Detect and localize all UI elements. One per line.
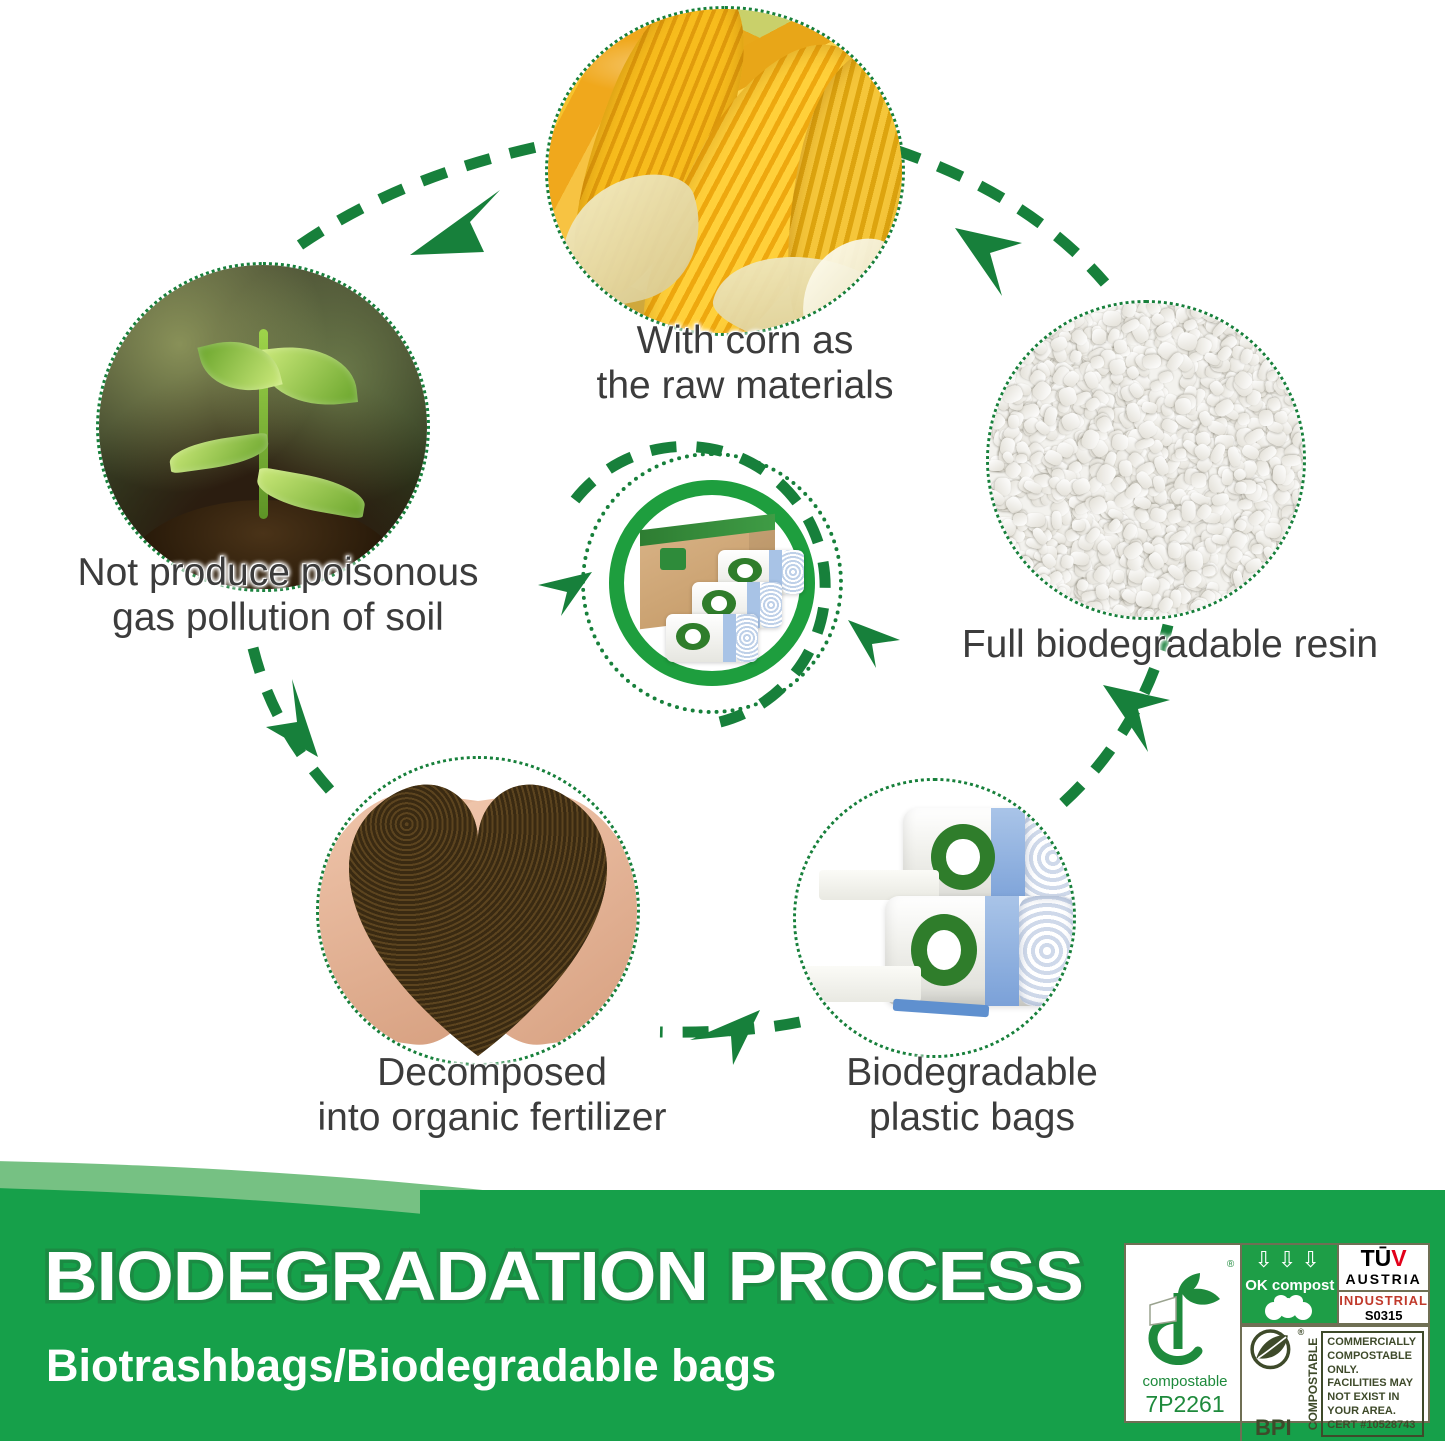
registered-mark-icon: ® [1227,1259,1234,1270]
seedling-icon [1142,1263,1228,1371]
arrow-head-resin-to-bags [1103,685,1170,752]
arrow-head-center-right [848,620,900,668]
bpi-leaf-icon [1246,1327,1300,1375]
bpi-badge: ® BPI [1242,1327,1304,1441]
bpi-registered-mark-icon: ® [1298,1327,1305,1337]
infographic-canvas: With corn as the raw materials Full biod… [0,0,1445,1441]
ok-compost-tuv-row: ⇩⇩⇩ OK compost TŪV AUSTRIA [1240,1245,1428,1325]
bpi-row: ® BPI COMPOSTABLE COMMERCIALLY COMPOSTAB… [1240,1325,1428,1441]
arrow-head-sprout-to-corn [410,190,500,255]
compostable-vertical: COMPOSTABLE [1304,1327,1321,1441]
step-image-corn [545,6,905,336]
product-roll-3 [666,614,758,662]
hands-holding-heart-soil-photo [316,756,640,1066]
tuv-code: S0315 [1365,1308,1403,1323]
bpi-text: BPI [1242,1417,1304,1439]
step-image-resin [986,300,1306,620]
caption-resin: Full biodegradable resin [900,622,1440,667]
compostable-vertical-text: COMPOSTABLE [1306,1338,1320,1430]
arrow-path-corn-to-resin [895,150,1105,283]
tuv-name: TŪV [1361,1247,1407,1270]
compost-flower-icon [1264,1295,1316,1321]
page-title: BIODEGRADATION PROCESS [44,1236,1083,1316]
seedling-in-soil-photo [96,262,430,592]
corn-cobs-photo [545,6,905,336]
seedling-label: compostable [1126,1373,1244,1390]
tuv-country: AUSTRIA [1346,1270,1422,1288]
arrow-head-corn-to-resin [955,228,1022,296]
page-subtitle: Biotrashbags/Biodegradable bags [46,1340,776,1392]
arrow-path-bags-to-soil [660,1022,800,1032]
arrow-path-soil-to-sprout [253,648,330,790]
bag-rolls-photo [793,778,1076,1058]
tuv-divider [1339,1290,1428,1292]
arrow-path-sprout-to-corn [300,142,560,245]
caption-sprout: Not produce poisonous gas pollution of s… [18,550,538,640]
ok-compost-badge: ⇩⇩⇩ OK compost [1242,1245,1337,1323]
step-image-bags [793,778,1076,1058]
bpi-disclaimer: COMMERCIALLY COMPOSTABLE ONLY. FACILITIE… [1321,1331,1424,1437]
seedling-logo-block: ® compostable 7P2261 [1126,1245,1240,1421]
arrow-head-soil-to-sprout [266,679,318,757]
white-resin-pellets-photo [986,300,1306,620]
seedling-number: 7P2261 [1126,1391,1244,1418]
step-image-soil [316,756,640,1066]
tuv-industrial: INDUSTRIAL [1339,1293,1428,1308]
product-box-label [660,548,686,570]
step-image-sprout [96,262,430,592]
caption-corn: With corn as the raw materials [520,318,970,408]
ok-compost-label: OK compost [1242,1277,1337,1294]
tuv-name-text: TŪV [1361,1245,1407,1271]
cert-right-column: ⇩⇩⇩ OK compost TŪV AUSTRIA [1240,1245,1428,1421]
certification-panel: ® compostable 7P2261 ⇩⇩⇩ OK compost [1124,1243,1430,1423]
tuv-austria-badge: TŪV AUSTRIA INDUSTRIAL S0315 [1337,1245,1428,1323]
down-arrows-icon: ⇩⇩⇩ [1242,1249,1337,1271]
